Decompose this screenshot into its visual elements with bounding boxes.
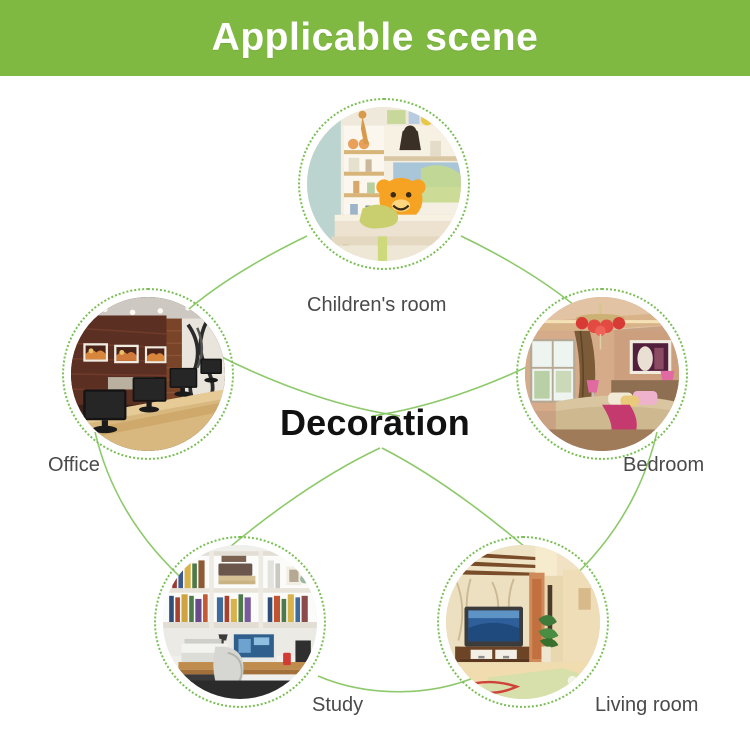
node-label-office: Office bbox=[48, 454, 100, 477]
study-photo bbox=[163, 545, 317, 699]
diagram-center-label: Decoration bbox=[0, 402, 750, 444]
node-label-bedroom: Bedroom bbox=[623, 454, 704, 477]
node-label-living-room: Living room bbox=[595, 694, 698, 717]
node-living-room[interactable] bbox=[437, 536, 609, 708]
node-label-study: Study bbox=[312, 694, 363, 717]
node-children-room[interactable] bbox=[298, 98, 470, 270]
node-label-children-room: Children's room bbox=[307, 294, 446, 317]
node-study[interactable] bbox=[154, 536, 326, 708]
page-title: Applicable scene bbox=[212, 16, 539, 60]
childrens-room-photo bbox=[307, 107, 461, 261]
header-banner: Applicable scene bbox=[0, 0, 750, 76]
applicable-scene-diagram: Children's room bbox=[0, 76, 750, 750]
living-room-photo bbox=[446, 545, 600, 699]
